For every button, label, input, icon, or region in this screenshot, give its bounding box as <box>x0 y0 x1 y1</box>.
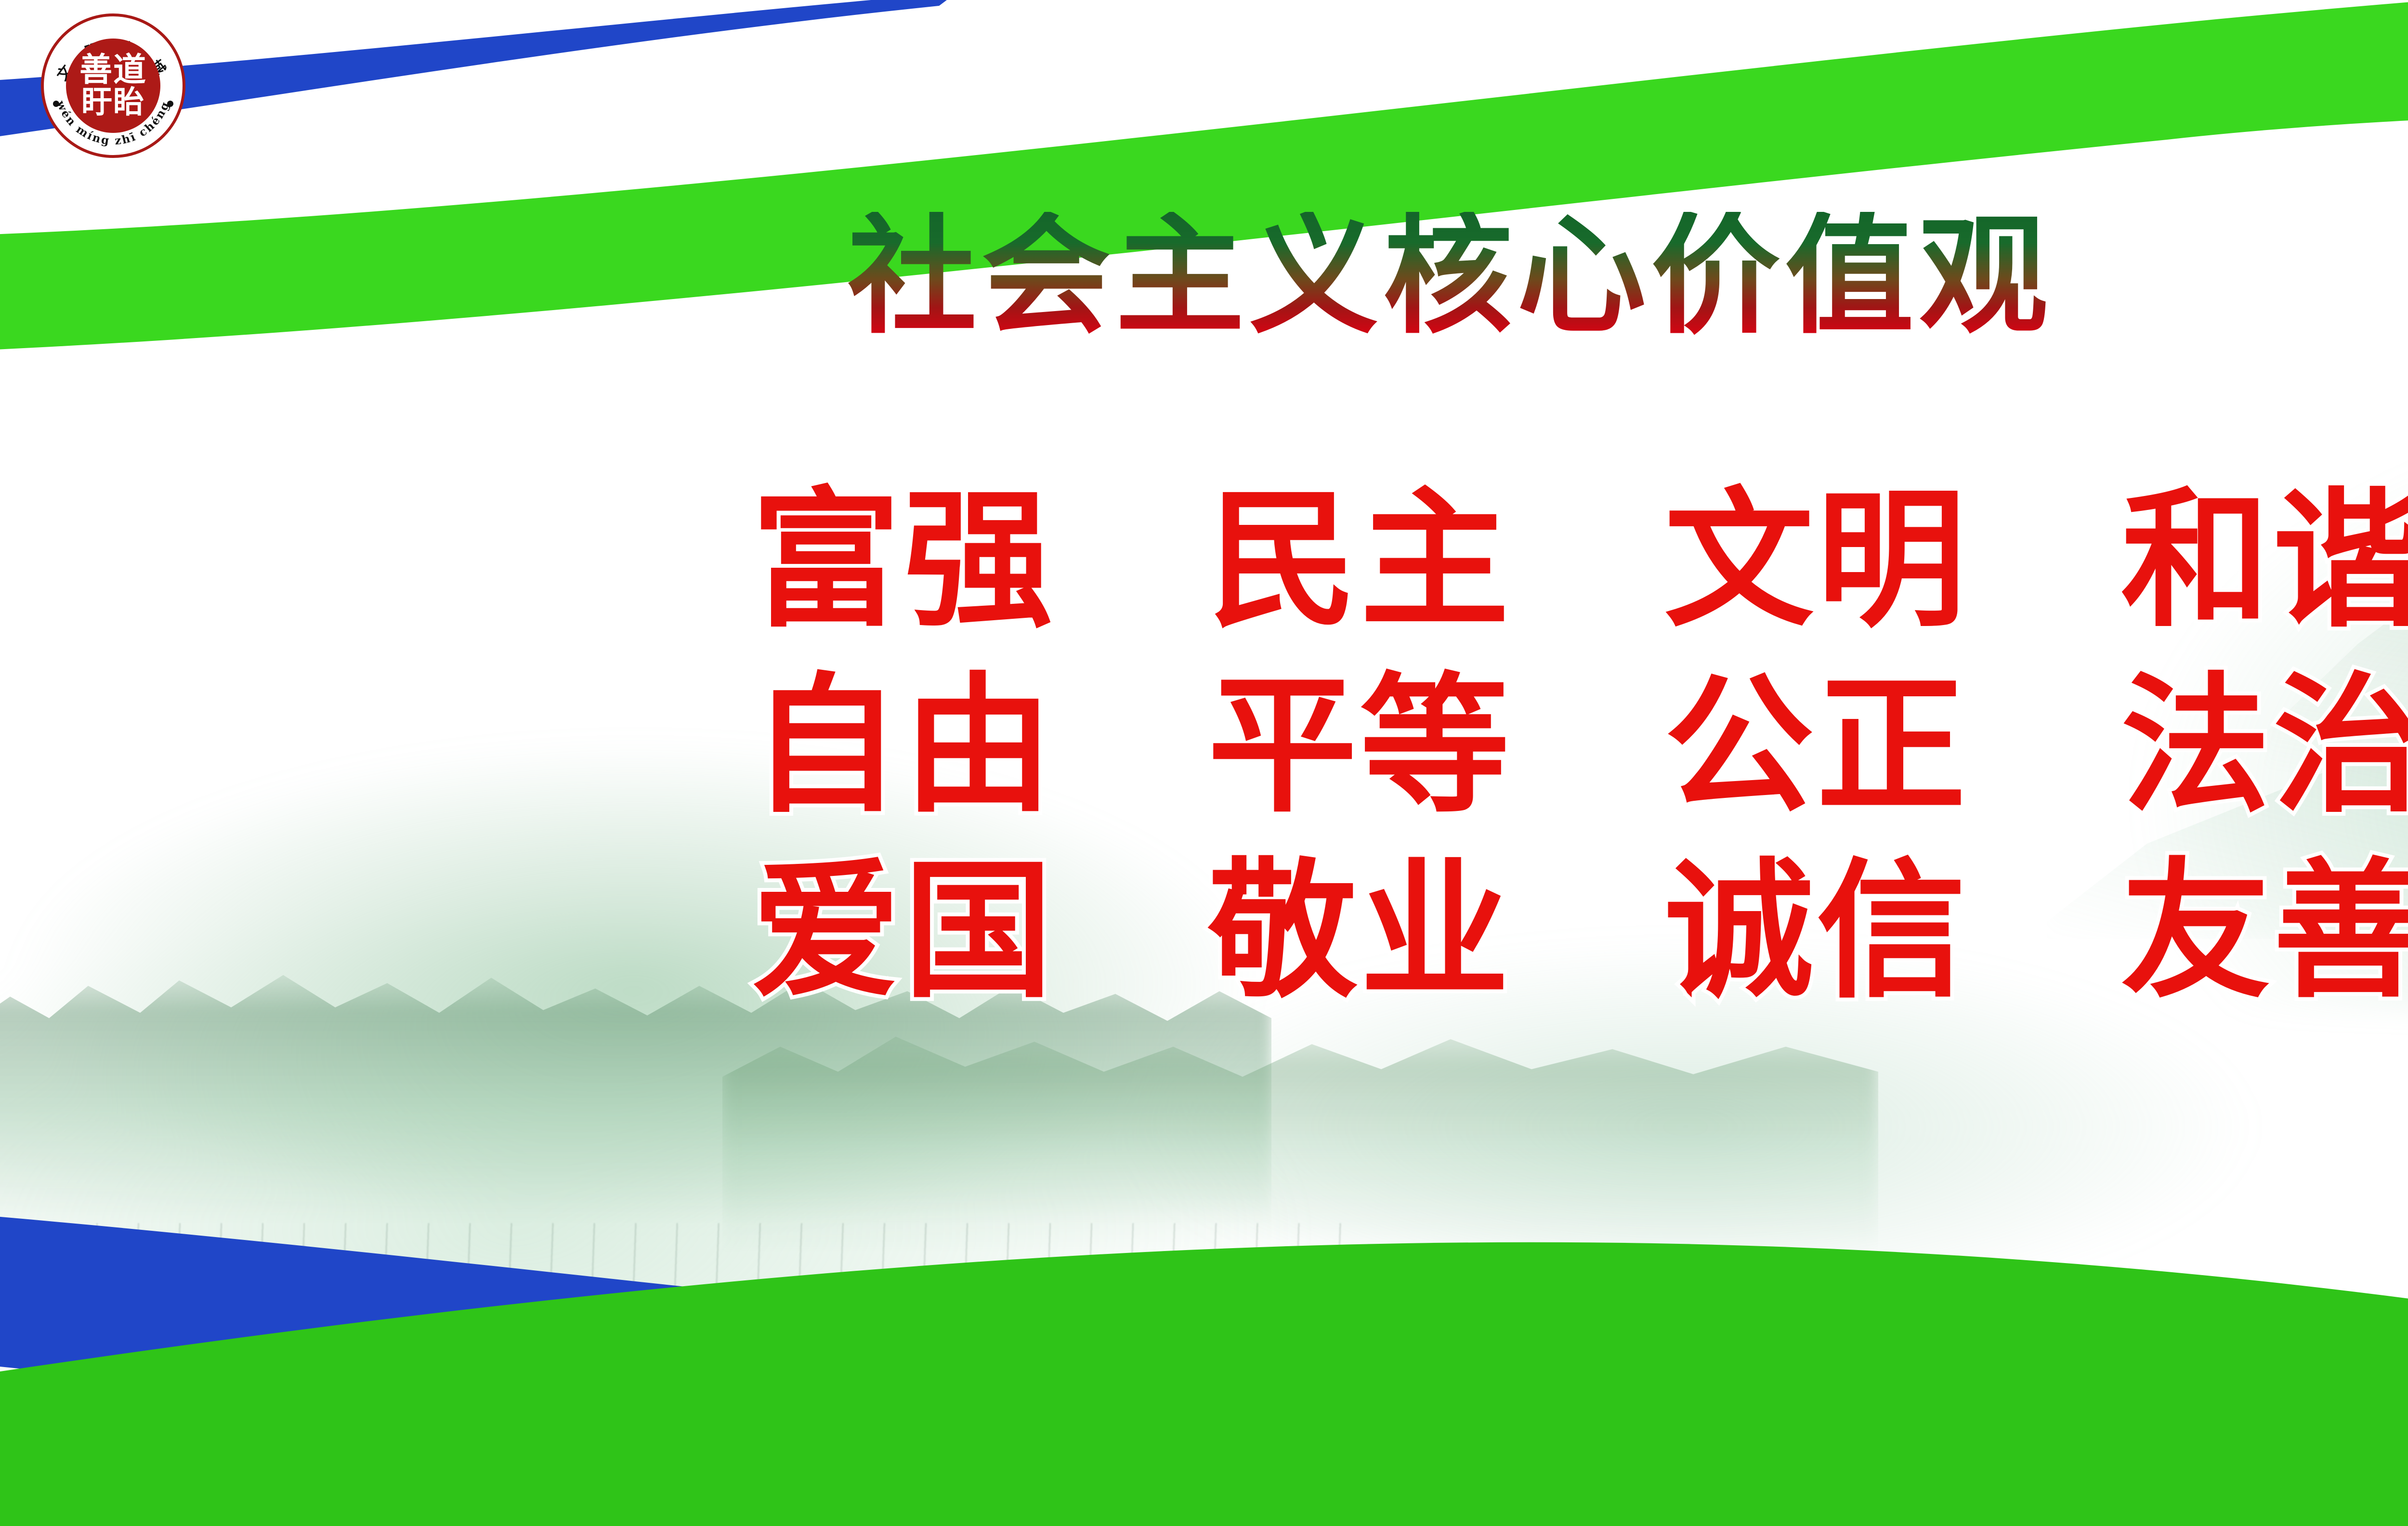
emblem-dot-right <box>167 101 173 107</box>
slogan-line-3-text: 爱国 敬业 诚信 友善 <box>751 845 2408 1018</box>
banner-board: 文 明 之 城 wén míng zhī chéng 善道 盱眙 社会主义核心价… <box>0 0 2408 1526</box>
emblem-dot-left <box>53 101 59 107</box>
emblem-core-circle: 善道 盱眙 <box>66 39 160 133</box>
core-values-slogan-block: 富强 民主 文明 和谐 自由 平等 公正 法治 爱国 敬业 诚信 友善 <box>751 486 2408 1043</box>
slogan-line-1-text: 富强 民主 文明 和谐 <box>751 474 2408 648</box>
slogan-line-2: 自由 平等 公正 法治 <box>751 672 2408 821</box>
ribbon-bottom-green <box>0 1233 2408 1526</box>
emblem-core-text: 善道 盱眙 <box>66 39 160 133</box>
slogan-line-3: 爱国 敬业 诚信 友善 <box>751 857 2408 1006</box>
emblem-core-line-1: 善道 <box>79 54 147 86</box>
slogan-line-1: 富强 民主 文明 和谐 <box>751 486 2408 636</box>
slogan-line-2-text: 自由 平等 公正 法治 <box>751 659 2408 833</box>
emblem-core-line-2: 盱眙 <box>81 88 145 117</box>
page-title: 社会主义核心价值观 <box>848 212 2053 341</box>
emblem-logo: 文 明 之 城 wén míng zhī chéng 善道 盱眙 <box>41 13 185 158</box>
